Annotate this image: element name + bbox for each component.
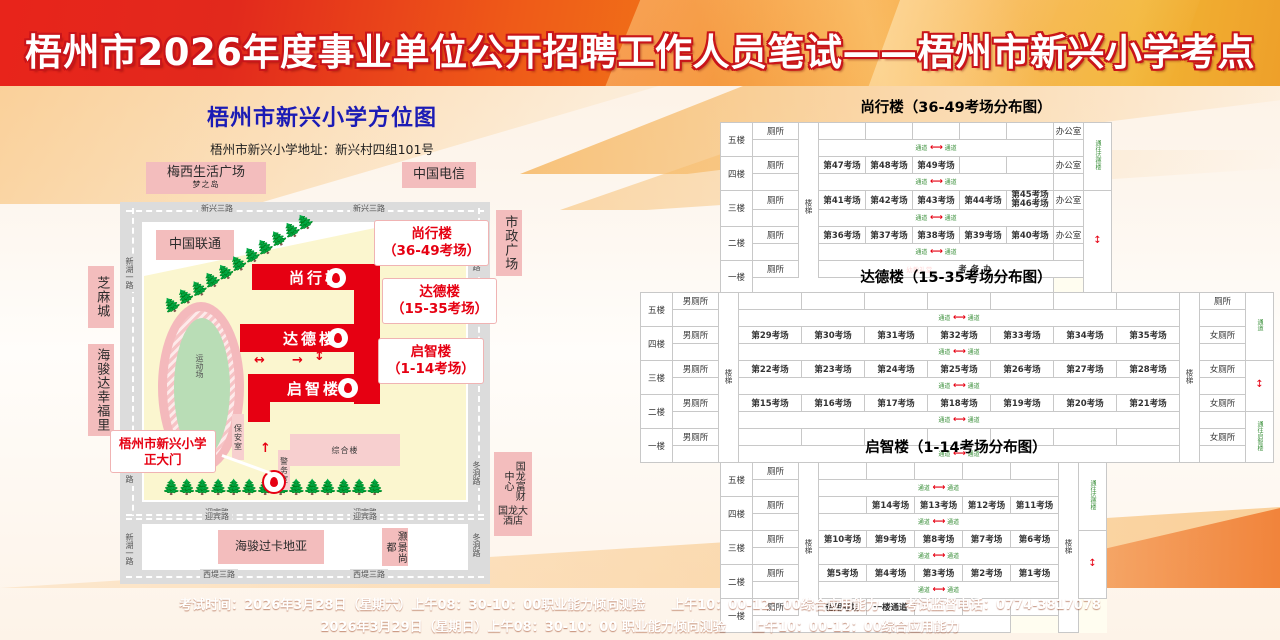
corridor-cell (1200, 412, 1246, 429)
floor-label: 二楼 (641, 395, 673, 429)
corridor-cell (753, 243, 799, 260)
stairs-label: 楼梯 (723, 369, 734, 384)
poi-haijunda-happiness: 海骏达幸福里 (88, 344, 114, 436)
room-cell: 第19考场 (991, 395, 1054, 412)
corridor-arrow-icon: ⟷ (930, 177, 942, 187)
restroom-cell: 厕所 (753, 123, 799, 140)
room-cell: 第3考场 (915, 565, 963, 582)
corridor-cell (753, 514, 799, 531)
room-cell: 第32考场 (928, 327, 991, 344)
floor-label: 三楼 (721, 191, 753, 227)
table-row: 二楼 厕所 第5考场 第4考场 第3考场 第2考场 第1考场 (721, 565, 1107, 582)
floor-label: 四楼 (721, 157, 753, 191)
corridor-cell: 通道 ⟷ 通道 (819, 480, 1059, 497)
room-cell: 第28考场 (1117, 361, 1180, 378)
corridor-cell (753, 140, 799, 157)
room-cell (802, 293, 865, 310)
corridor-arrow-icon: ⟷ (933, 551, 945, 561)
road-label-east-2: 冬洞路 (471, 458, 482, 488)
corridor-arrow-icon: ⟷ (953, 415, 965, 425)
corridor-label: 通道 (947, 553, 959, 560)
corridor-cell (1054, 140, 1084, 157)
table-row: 通道 ⟷ 通道 (721, 140, 1112, 157)
room-cell: 第15考场 (739, 395, 802, 412)
room-cell: 第37考场 (866, 226, 913, 243)
corridor-label: 通道 (968, 417, 980, 424)
room-cell (865, 293, 928, 310)
footer-line-2: 2026年3月29日（星期日）上午08：30-10：00 职业能力倾向测验上午1… (320, 616, 959, 635)
road-label-north-right: 新兴三路 (350, 203, 388, 214)
road-label-north-left: 新兴三路 (198, 203, 236, 214)
footer-line-1: 考试时间：2026年3月28日（星期六）上午08：30-10：00职业能力倾向测… (179, 594, 1101, 613)
side-passage-label: 通往达德楼 (1088, 480, 1097, 510)
corridor-label: 通道 (945, 145, 957, 152)
table-row: 通道 ⟷ 通道 (721, 243, 1112, 260)
corridor-cell: 通道 ⟷ 通道 (819, 174, 1054, 191)
sports-field-label: 运动场 (194, 354, 205, 378)
room-cell: 第23考场 (802, 361, 865, 378)
room-cell: 第31考场 (865, 327, 928, 344)
page-title: 梧州市2026年度事业单位公开招聘工作人员笔试——梧州市新兴小学考点 (0, 22, 1280, 76)
restroom-cell-male: 男厕所 (673, 293, 719, 310)
corridor-label: 通道 (945, 249, 957, 256)
room-cell-double: 第45考场 第46考场 (1007, 191, 1054, 210)
callout-dade: 达德楼 （15-35考场） (382, 278, 497, 324)
corridor-label: 通道 (968, 383, 980, 390)
room-cell: 第44考场 (960, 191, 1007, 210)
corridor-arrow-icon: ⟷ (933, 483, 945, 493)
room-cell: 第14考场 (867, 497, 915, 514)
restroom-cell-male: 男厕所 (673, 395, 719, 412)
callout-line2: （36-49考场） (383, 243, 480, 260)
stairs-label: 楼梯 (1184, 369, 1195, 384)
corridor-label: 通道 (938, 383, 950, 390)
restroom-cell-male: 男厕所 (673, 361, 719, 378)
callout-line2: （1-14考场） (387, 361, 475, 378)
map-address: 梧州市新兴小学地址：新兴村四组101号 (82, 139, 562, 158)
restroom-cell: 厕所 (753, 157, 799, 174)
table-row: 通道 ⟷ 通道 (721, 209, 1112, 226)
room-cell: 第35考场 (1117, 327, 1180, 344)
room-cell: 第5考场 (819, 565, 867, 582)
corridor-cell: 通道 ⟷ 通道 (819, 514, 1059, 531)
vertical-arrow-icon: ↕ (1092, 235, 1103, 246)
table-row: 四楼 厕所 第47考场 第48考场 第49考场 办公室 (721, 157, 1112, 174)
poi-guolong-group: 国龙富财中心 国龙大酒店 (494, 452, 532, 536)
restroom-cell: 厕所 (753, 565, 799, 582)
road-label-west-1: 新湖一路 (124, 254, 135, 292)
corridor-cell: 通道 ⟷ 通道 (739, 378, 1180, 395)
room-cell: 第39考场 (960, 226, 1007, 243)
corridor-cell (673, 344, 719, 361)
callout-line1: 启智楼 (387, 344, 475, 361)
room-cell (928, 293, 991, 310)
office-cell: 办公室 (1054, 157, 1084, 174)
room-cell: 第43考场 (913, 191, 960, 210)
building-label: 综合楼 (332, 445, 359, 456)
floor-label: 五楼 (641, 293, 673, 327)
poi-municipal-plaza: 市政广场 (496, 210, 522, 276)
room-cell: 第30考场 (802, 327, 865, 344)
table-row: 三楼 厕所 第41考场 第42考场 第43考场 第44考场 第45考场 第46考… (721, 191, 1112, 210)
road-label-mid-right-2: 迎宾路 (350, 511, 380, 522)
poi-haojing-shangdu: 灏景尚都 (382, 528, 408, 566)
room-cell (819, 463, 867, 480)
corridor-cell (1054, 174, 1084, 191)
corridor-label: 通道 (918, 553, 930, 560)
vertical-arrow-icon: ↕ (1087, 558, 1098, 569)
callout-main-gate: 梧州市新兴小学 正大门 (110, 430, 216, 473)
room-cell: 第10考场 (819, 531, 867, 548)
table-row: 通道 ⟷ 通道 (721, 480, 1107, 497)
poi-label-guolong-fucai: 国龙富财中心 (502, 461, 524, 501)
road-south-dash2 (126, 576, 484, 578)
room-cell: 第41考场 (819, 191, 866, 210)
corridor-cell: 通道 ⟷ 通道 (819, 243, 1054, 260)
room-cell (819, 497, 867, 514)
campus-arrow-3: ↕ (314, 350, 325, 363)
road-label-east-3: 冬洞路 (471, 530, 482, 560)
corridor-label: 通道 (947, 485, 959, 492)
corridor-cell (1054, 209, 1084, 226)
room-cell (867, 463, 915, 480)
poi-label: 梅西生活广场 (167, 166, 245, 181)
room-cell: 第12考场 (963, 497, 1011, 514)
corridor-arrow-icon: ⟷ (953, 313, 965, 323)
restroom-cell-right: 厕所 (1200, 293, 1246, 310)
road-mid-dash2 (126, 518, 484, 520)
floor-label: 三楼 (721, 531, 753, 565)
poi-label: 中国联通 (169, 238, 221, 253)
restroom-cell: 厕所 (753, 191, 799, 210)
corridor-label: 通道 (915, 145, 927, 152)
room-cell: 第8考场 (915, 531, 963, 548)
side-passage-label: 通往达德楼 (1093, 140, 1102, 170)
poi-meixi-plaza: 梅西生活广场 梦之岛 (146, 162, 266, 194)
building-security-room: 保安室 (232, 414, 244, 460)
table-row: 三楼 厕所 第10考场 第9考场 第8考场 第7考场 第6考场 ↕ (721, 531, 1107, 548)
corridor-label: 通道 (938, 417, 950, 424)
building-comprehensive: 综合楼 (290, 434, 400, 466)
table-row: 通道 ⟷ 通道 (721, 548, 1107, 565)
building-label: 启智楼 (287, 378, 341, 399)
callout-shangxing: 尚行楼 （36-49考场） (374, 220, 489, 266)
corridor-label: 通道 (915, 215, 927, 222)
corridor-cell (1054, 243, 1084, 260)
callout-line1: 尚行楼 (383, 226, 480, 243)
table-row: 二楼 厕所 第36考场 第37考场 第38考场 第39考场 第40考场 办公室 (721, 226, 1112, 243)
poi-label-guolong-hotel: 国龙大酒店 (494, 507, 532, 528)
corridor-arrow-icon: ⟷ (933, 517, 945, 527)
room-cell (866, 123, 913, 140)
footer-session-1: 上午10：00-12：00综合应用能力 (671, 598, 879, 613)
corridor-arrow-icon: ⟷ (953, 381, 965, 391)
campus-arrow-5: ↑ (260, 442, 271, 455)
room-label-b: 第46考场 (1007, 200, 1053, 209)
road-label-south-right-2: 西堤三路 (350, 569, 388, 580)
room-cell: 第7考场 (963, 531, 1011, 548)
corridor-cell (1200, 378, 1246, 395)
room-cell: 第4考场 (867, 565, 915, 582)
floorplan-title: 尚行楼（36-49考场分布图） (636, 96, 1276, 117)
floor-label: 三楼 (641, 361, 673, 395)
corridor-cell (673, 378, 719, 395)
room-cell (963, 463, 1011, 480)
floorplan-dade: 达德楼（15-35考场分布图） 五楼 男厕所 楼梯 楼梯 厕所 通道 (636, 266, 1276, 463)
room-cell: 第49考场 (913, 157, 960, 174)
restroom-cell: 厕所 (753, 463, 799, 480)
callout-line2: （15-35考场） (391, 301, 488, 318)
corridor-cell (673, 412, 719, 429)
corridor-cell (1200, 310, 1246, 327)
floor-label: 四楼 (721, 497, 753, 531)
room-cell: 第26考场 (991, 361, 1054, 378)
room-cell: 第38考场 (913, 226, 960, 243)
room-cell (1007, 157, 1054, 174)
room-cell: 第16考场 (802, 395, 865, 412)
corridor-label: 通道 (945, 215, 957, 222)
restroom-cell-female: 女厕所 (1200, 395, 1246, 412)
table-row: 通道 ⟷ 通道 (721, 174, 1112, 191)
restroom-cell-female: 女厕所 (1200, 361, 1246, 378)
corridor-label: 通道 (915, 249, 927, 256)
floor-label: 四楼 (641, 327, 673, 361)
road-label-west-3: 新湖一路 (124, 530, 135, 568)
corridor-label: 通道 (918, 485, 930, 492)
poi-label: 市政广场 (502, 215, 517, 271)
callout-qizhi: 启智楼 （1-14考场） (378, 338, 484, 384)
room-cell: 第20考场 (1054, 395, 1117, 412)
map-pin-main-gate[interactable] (262, 470, 286, 494)
map-title: 梧州市新兴小学方位图 (82, 100, 562, 132)
table-row: 通道 ⟷ 通道 (721, 514, 1107, 531)
campus-arrow-2: → (292, 354, 303, 367)
room-cell: 第2考场 (963, 565, 1011, 582)
corridor-cell: 通道 ⟷ 通道 (819, 140, 1054, 157)
room-cell: 第27考场 (1054, 361, 1117, 378)
side-passage-label: 通道 (1255, 319, 1264, 331)
corridor-cell (753, 209, 799, 226)
room-cell: 第22考场 (739, 361, 802, 378)
footer-session-2: 上午10：00-12：00综合应用能力 (752, 620, 960, 635)
poi-zhima-city: 芝麻城 (88, 266, 114, 328)
room-cell (1054, 293, 1117, 310)
room-cell: 第25考场 (928, 361, 991, 378)
building-label: 保安室 (233, 424, 244, 451)
callout-line1: 梧州市新兴小学 (119, 436, 207, 452)
office-cell: 办公室 (1054, 191, 1084, 210)
floorplan-title: 启智楼（1-14考场分布图） (636, 436, 1276, 457)
vertical-arrow-icon: ↕ (1254, 379, 1265, 390)
stairs-label: 楼梯 (803, 539, 814, 554)
room-cell (1007, 123, 1054, 140)
table-row: 五楼 男厕所 楼梯 楼梯 厕所 通道 (641, 293, 1274, 310)
room-cell: 第21考场 (1117, 395, 1180, 412)
map-pin-shangxing[interactable] (326, 268, 346, 288)
room-cell: 第34考场 (1054, 327, 1117, 344)
corridor-label: 通道 (968, 349, 980, 356)
poi-haijunguo-kadiya: 海骏过卡地亚 (218, 530, 324, 564)
map-pin-dade[interactable] (328, 328, 348, 348)
room-cell: 第11考场 (1011, 497, 1059, 514)
room-cell (739, 293, 802, 310)
room-cell (819, 123, 866, 140)
floor-label: 五楼 (721, 463, 753, 497)
corridor-cell (753, 174, 799, 191)
floorplan-title: 达德楼（15-35考场分布图） (636, 266, 1276, 287)
poi-sublabel: 梦之岛 (193, 181, 220, 190)
corridor-cell (1200, 344, 1246, 361)
table-row: 五楼 厕所 楼梯 楼梯 通往达德楼 (721, 463, 1107, 480)
room-cell: 第40考场 (1007, 226, 1054, 243)
side-passage: 通道 (1246, 293, 1274, 361)
room-cell (913, 123, 960, 140)
map-canvas: 梅西生活广场 梦之岛 中国电信 新兴三路 新兴三路 迎宾路 迎宾路 西堤三路 西… (82, 158, 562, 588)
corridor-arrow-icon: ⟷ (930, 143, 942, 153)
poi-label: 海骏达幸福里 (94, 348, 109, 432)
corridor-cell: 通道 ⟷ 通道 (739, 310, 1180, 327)
side-passage: 通往达德楼 (1084, 123, 1112, 191)
corridor-cell: 通道 ⟷ 通道 (739, 344, 1180, 361)
corridor-cell: 通道 ⟷ 通道 (819, 548, 1059, 565)
callout-line2: 正大门 (119, 452, 207, 468)
corridor-label: 通道 (968, 315, 980, 322)
road-label-south-left-2: 西堤三路 (200, 569, 238, 580)
stairs-label: 楼梯 (803, 199, 814, 214)
room-cell: 第6考场 (1011, 531, 1059, 548)
footer-supervision-phone: 考试监督电话：0774-3817078 (905, 598, 1101, 613)
poi-china-telecom: 中国电信 (402, 162, 476, 188)
room-cell: 第29考场 (739, 327, 802, 344)
office-cell: 办公室 (1054, 226, 1084, 243)
map-pin-qizhi[interactable] (338, 378, 358, 398)
room-cell: 第13考场 (915, 497, 963, 514)
footer-exam-time-1: 考试时间：2026年3月28日（星期六）上午08：30-10：00职业能力倾向测… (179, 598, 645, 613)
corridor-label: 通道 (918, 519, 930, 526)
corridor-cell: 通道 ⟷ 通道 (739, 412, 1180, 429)
poi-label: 芝麻城 (94, 276, 109, 318)
side-passage: 通往达德楼 (1079, 463, 1107, 531)
road-label-mid-left-2: 迎宾路 (202, 511, 232, 522)
poi-label: 海骏过卡地亚 (235, 540, 307, 553)
floor-label: 五楼 (721, 123, 753, 157)
side-vertical-arrow: ↕ (1246, 361, 1274, 412)
room-cell (1117, 293, 1180, 310)
campus-map-panel: 梧州市新兴小学方位图 梧州市新兴小学地址：新兴村四组101号 梅西生活广场 梦之… (82, 100, 562, 595)
restroom-cell-female: 女厕所 (1200, 327, 1246, 344)
room-cell: 第33考场 (991, 327, 1054, 344)
corridor-arrow-icon: ⟷ (930, 247, 942, 257)
corridor-label: 通道 (945, 179, 957, 186)
stairs-label: 楼梯 (1063, 539, 1074, 554)
room-cell: 第17考场 (865, 395, 928, 412)
table-row: 五楼 厕所 楼梯 办公室 通往达德楼 (721, 123, 1112, 140)
corridor-label: 通道 (947, 519, 959, 526)
corridor-cell (673, 310, 719, 327)
room-cell (960, 157, 1007, 174)
restroom-cell-male: 男厕所 (673, 327, 719, 344)
room-cell (1011, 463, 1059, 480)
corridor-cell: 通道 ⟷ 通道 (819, 209, 1054, 226)
restroom-cell: 厕所 (753, 226, 799, 243)
table-row: 四楼 厕所 第14考场 第13考场 第12考场 第11考场 (721, 497, 1107, 514)
corridor-cell (753, 548, 799, 565)
corridor-cell (753, 480, 799, 497)
callout-line1: 达德楼 (391, 284, 488, 301)
corridor-arrow-icon: ⟷ (930, 213, 942, 223)
office-cell: 办公室 (1054, 123, 1084, 140)
room-cell (991, 293, 1054, 310)
floor-label: 二楼 (721, 226, 753, 260)
corridor-label: 通道 (938, 349, 950, 356)
corridor-arrow-icon: ⟷ (953, 347, 965, 357)
footer-exam-time-2: 2026年3月29日（星期日）上午08：30-10：00 职业能力倾向测验 (320, 620, 726, 635)
room-cell (915, 463, 963, 480)
room-cell: 第9考场 (867, 531, 915, 548)
poi-china-unicom: 中国联通 (156, 230, 234, 260)
poi-label: 灏景尚都 (384, 528, 406, 566)
corridor-label: 通道 (915, 179, 927, 186)
room-cell: 第42考场 (866, 191, 913, 210)
poi-label: 中国电信 (413, 168, 465, 183)
room-cell: 第48考场 (866, 157, 913, 174)
room-cell: 第36考场 (819, 226, 866, 243)
footer-bar: 考试时间：2026年3月28日（星期六）上午08：30-10：00职业能力倾向测… (0, 588, 1280, 640)
restroom-cell: 厕所 (753, 531, 799, 548)
room-cell: 第47考场 (819, 157, 866, 174)
campus-arrow-1: ↔ (254, 354, 265, 367)
room-cell: 第24考场 (865, 361, 928, 378)
corridor-label: 通道 (938, 315, 950, 322)
room-cell (960, 123, 1007, 140)
room-cell: 第1考场 (1011, 565, 1059, 582)
restroom-cell: 厕所 (753, 497, 799, 514)
room-cell: 第18考场 (928, 395, 991, 412)
campus-arrow-4: ↑ (260, 412, 271, 425)
